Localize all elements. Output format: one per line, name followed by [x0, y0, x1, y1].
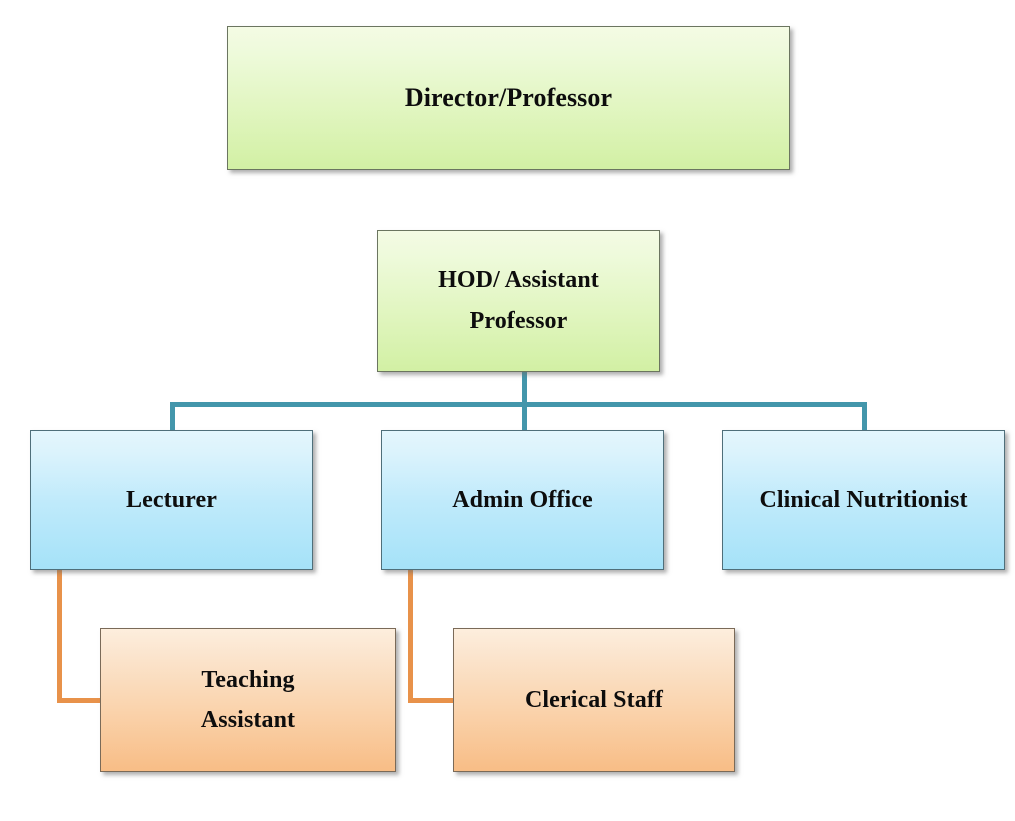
org-chart-canvas: Director/Professor HOD/ AssistantProfess…	[0, 0, 1015, 821]
connector-admin-office-clerical-staff-vertical	[408, 569, 413, 703]
connector-drop-lecturer	[170, 402, 175, 432]
connector-horizontal-bus	[170, 402, 867, 407]
node-hod-line-2: Professor	[470, 308, 568, 334]
node-lecturer[interactable]: Lecturer	[30, 430, 313, 570]
node-clerical-staff[interactable]: Clerical Staff	[453, 628, 735, 772]
node-admin-office[interactable]: Admin Office	[381, 430, 664, 570]
node-director-professor[interactable]: Director/Professor	[227, 26, 790, 170]
node-teaching-assistant-line-2: Assistant	[201, 707, 295, 733]
node-teaching-assistant-line-1: Teaching	[201, 667, 294, 693]
node-lecturer-label: Lecturer	[116, 483, 227, 517]
node-clerical-staff-label: Clerical Staff	[515, 683, 673, 717]
node-hod-assistant-professor-label: HOD/ AssistantProfessor	[428, 260, 609, 343]
connector-hod-stem	[522, 371, 527, 406]
node-hod-line-1: HOD/ Assistant	[438, 267, 599, 293]
connector-lecturer-teaching-assistant-horizontal	[57, 698, 105, 703]
node-clinical-nutritionist[interactable]: Clinical Nutritionist	[722, 430, 1005, 570]
connector-drop-admin-office	[522, 402, 527, 432]
node-teaching-assistant-label: TeachingAssistant	[191, 660, 305, 741]
connector-lecturer-teaching-assistant-vertical	[57, 569, 62, 703]
node-clinical-nutritionist-label: Clinical Nutritionist	[755, 483, 971, 517]
node-hod-assistant-professor[interactable]: HOD/ AssistantProfessor	[377, 230, 660, 372]
node-director-professor-label: Director/Professor	[395, 80, 622, 117]
connector-drop-clinical-nutritionist	[862, 402, 867, 432]
node-teaching-assistant[interactable]: TeachingAssistant	[100, 628, 396, 772]
connector-admin-office-clerical-staff-horizontal	[408, 698, 458, 703]
node-admin-office-label: Admin Office	[442, 483, 603, 517]
